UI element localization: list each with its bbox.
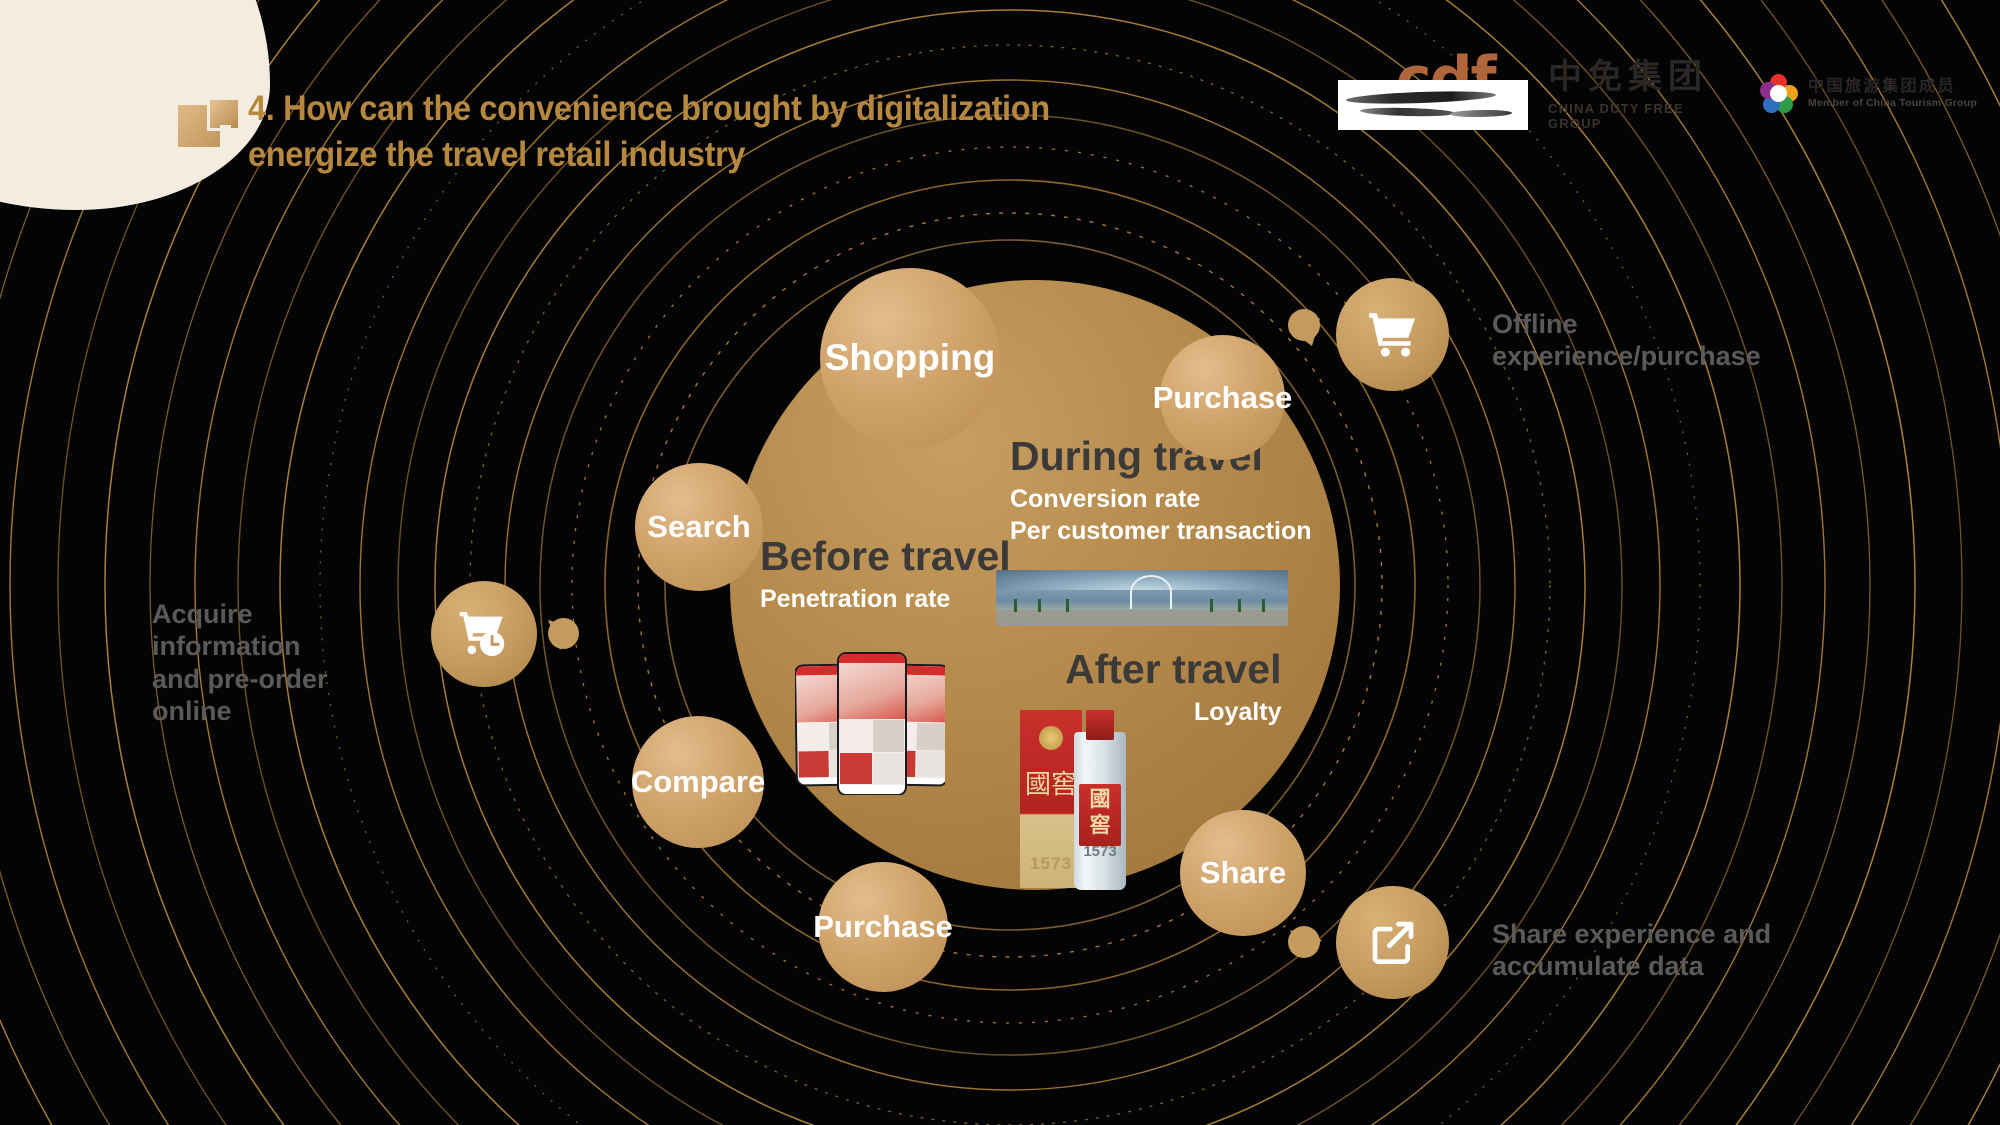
- label-offline-experience: Offline experience/purchase: [1492, 308, 1852, 373]
- china-duty-free-logo-cn: 中免集团: [1548, 60, 1738, 94]
- label-share-experience-line-2: accumulate data: [1492, 950, 1792, 982]
- bubble-compare-label: Compare: [631, 764, 765, 800]
- stage-after-travel-head: After travel: [1065, 648, 1281, 691]
- stage-after-travel: After travel Loyalty: [1065, 648, 1281, 728]
- china-tourism-logo-cn: 中国旅游集团成员: [1808, 77, 1977, 95]
- bubble-purchase-top-label: Purchase: [1153, 380, 1293, 416]
- bubble-shopping-label: Shopping: [825, 337, 996, 379]
- label-acquire-information: Acquire information and pre-order online: [152, 598, 402, 728]
- stage-during-travel: During travel Conversion rate Per custom…: [1010, 435, 1312, 546]
- bubble-purchase-bottom-label: Purchase: [813, 909, 953, 945]
- page-title: 4. How can the convenience brought by di…: [248, 86, 1085, 178]
- bubble-search-label: Search: [647, 509, 750, 545]
- shopping-cart-icon: [1366, 308, 1420, 362]
- cdf-brushstroke-icon: [1338, 80, 1528, 130]
- stage-during-travel-sub-1: Conversion rate: [1010, 485, 1312, 515]
- stage-during-travel-sub-2: Per customer transaction: [1010, 517, 1312, 547]
- square-accent-small: [220, 125, 231, 136]
- share-icon-circle[interactable]: [1336, 886, 1449, 999]
- bubble-purchase-bottom[interactable]: Purchase: [818, 862, 948, 992]
- stage-after-travel-sub: Loyalty: [1065, 698, 1281, 728]
- bubble-compare[interactable]: Compare: [632, 716, 764, 848]
- connector-dot-bottom-right: [1288, 926, 1320, 958]
- stage-before-travel-head: Before travel: [760, 535, 1011, 578]
- cdf-logo: cdf: [1338, 52, 1528, 130]
- connector-dot-top-right: [1288, 309, 1320, 341]
- shopping-cart-icon-circle[interactable]: [1336, 278, 1449, 391]
- share-icon: [1366, 916, 1420, 970]
- china-tourism-group-logo: 中国旅游集团成员 Member of China Tourism Group: [1760, 74, 1990, 112]
- label-acquire-information-line-2: and pre-order online: [152, 663, 402, 728]
- tourism-flower-icon: [1760, 74, 1798, 112]
- cart-clock-icon: [457, 607, 511, 661]
- label-offline-experience-line-1: Offline experience/purchase: [1492, 308, 1852, 373]
- china-tourism-logo-en: Member of China Tourism Group: [1808, 97, 1977, 109]
- baijiu-product-photo: 國窖1573 國窖1573: [1018, 700, 1148, 900]
- china-duty-free-logo-en: CHINA DUTY FREE GROUP: [1548, 101, 1738, 131]
- connector-dot-left: [548, 618, 579, 649]
- china-duty-free-logo: 中免集团 CHINA DUTY FREE GROUP: [1548, 60, 1738, 131]
- page-title-line-2: energize the travel retail industry: [248, 132, 1085, 178]
- cart-clock-icon-circle[interactable]: [431, 581, 537, 687]
- stage-before-travel: Before travel Penetration rate: [760, 535, 1011, 615]
- bubble-share[interactable]: Share: [1180, 810, 1306, 936]
- label-share-experience: Share experience and accumulate data: [1492, 918, 1792, 983]
- label-acquire-information-line-1: Acquire information: [152, 598, 402, 663]
- bubble-purchase-top[interactable]: Purchase: [1160, 335, 1285, 460]
- slide-canvas: 4. How can the convenience brought by di…: [0, 0, 2000, 1125]
- mobile-app-screens-photo: [795, 650, 945, 795]
- bubble-shopping[interactable]: Shopping: [820, 268, 1000, 448]
- label-share-experience-line-1: Share experience and: [1492, 918, 1792, 950]
- bubble-share-label: Share: [1200, 855, 1286, 891]
- stage-before-travel-sub: Penetration rate: [760, 585, 1011, 615]
- page-title-line-1: 4. How can the convenience brought by di…: [248, 86, 1085, 132]
- duty-free-mall-photo: [996, 570, 1288, 626]
- bubble-search[interactable]: Search: [635, 463, 763, 591]
